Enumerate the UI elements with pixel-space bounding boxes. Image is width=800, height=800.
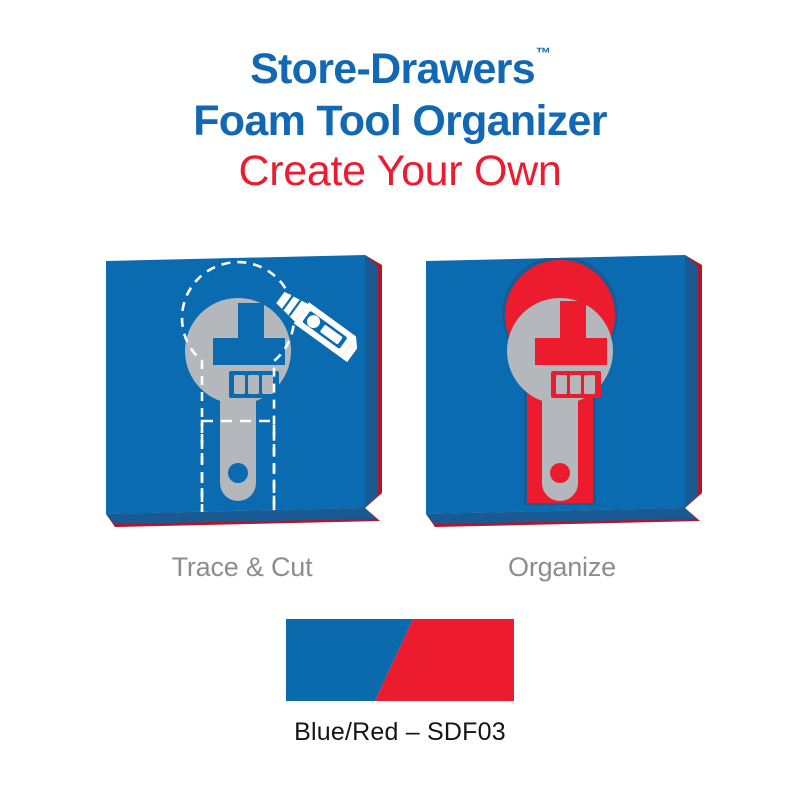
heading-block: Store-Drawers™ Foam Tool Organizer Creat… [0,48,800,193]
wrench-knurl-bar [234,375,245,394]
tagline-line: Create Your Own [0,150,800,193]
trademark-icon: ™ [536,45,551,62]
organize-illustration [412,243,712,543]
illustration-panels [0,243,800,543]
caption-organize: Organize [412,552,712,583]
panel-captions: Trace & Cut Organize [0,552,800,592]
wrench-hang-hole [228,463,248,483]
wrench-knurl-bar [570,375,581,394]
panel-trace-and-cut [92,243,392,543]
product-name-text: Store-Drawers [250,45,535,93]
foam-side-face-right [365,255,378,508]
foam-side-face-right [685,255,698,508]
wrench-knurl-bar [248,375,259,394]
panel-organize [412,243,712,543]
trace-and-cut-illustration [92,243,392,543]
wrench-knurl-bar [262,375,273,394]
poster-root: Store-Drawers™ Foam Tool Organizer Creat… [0,0,800,800]
caption-trace-and-cut: Trace & Cut [92,552,392,583]
product-name-line: Store-Drawers™ [250,48,550,91]
wrench-knurl-bar [584,375,595,394]
color-swatch-block: Blue/Red – SDF03 [286,619,514,747]
product-subtitle-line: Foam Tool Organizer [0,100,800,143]
wrench-hang-hole [550,463,570,483]
swatch-label: Blue/Red – SDF03 [286,718,514,747]
wrench-knurl-bar [556,375,567,394]
color-swatch [286,619,514,701]
